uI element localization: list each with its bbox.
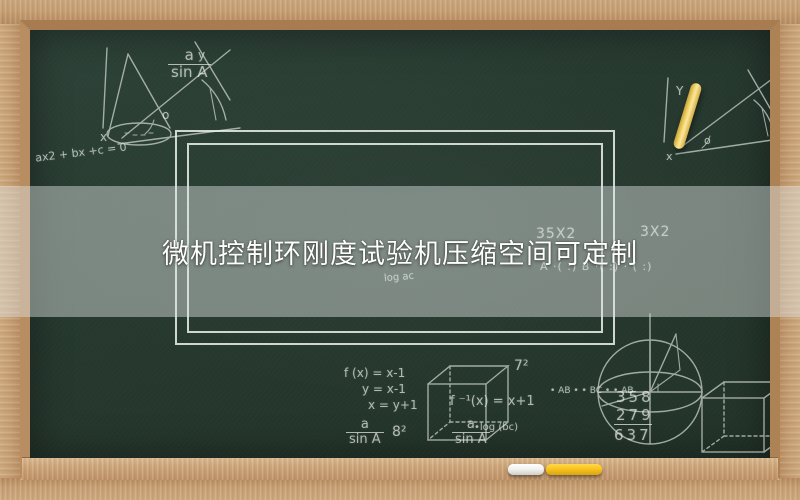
white-chalk-piece	[508, 464, 544, 475]
frame-rail-bottom	[0, 478, 800, 500]
yellow-chalk-piece	[546, 464, 602, 475]
chalk-tray	[22, 457, 778, 480]
page-title: 微机控制环刚度试验机压缩空间可定制	[162, 232, 638, 271]
blackboard-banner: y x o a sin A ax2 + bx +c = 0 Y x o 35X2…	[0, 0, 800, 500]
title-overlay-band: 微机控制环刚度试验机压缩空间可定制	[0, 186, 800, 317]
